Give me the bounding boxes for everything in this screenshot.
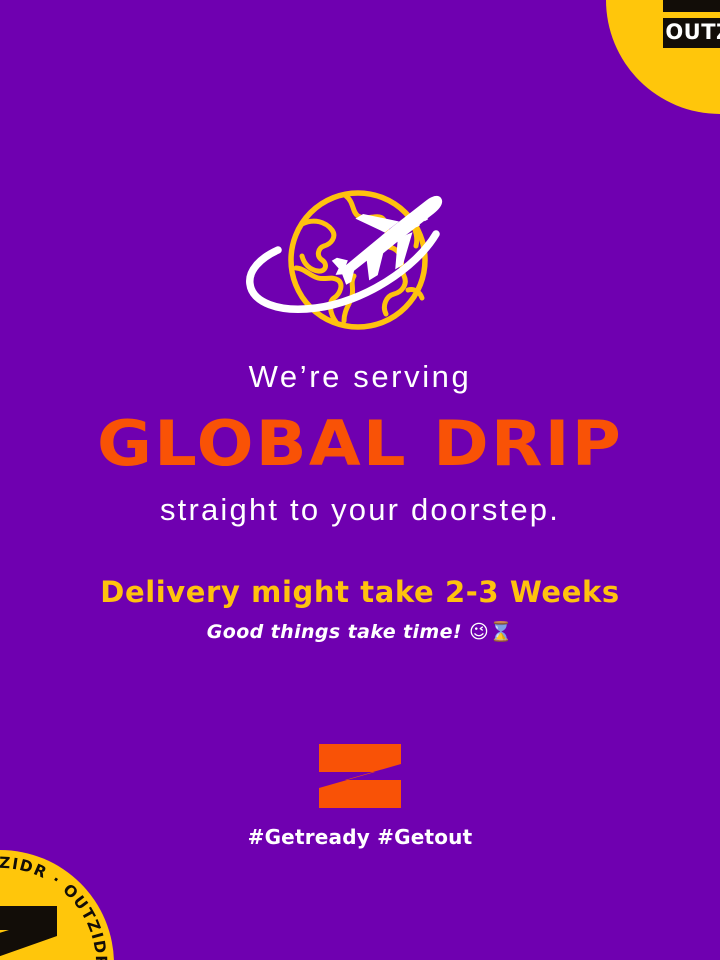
- footer-brand-block: #Getready #Getout: [0, 744, 720, 849]
- tagline-row: Good things take time! 😉⌛: [0, 622, 720, 643]
- delivery-notice: Delivery might take 2-3 Weeks: [0, 577, 720, 609]
- brand-stamp-top-right: OUTZIDR · OUTZIDR · OUTZIDR · OUTZIDR · …: [606, 0, 720, 114]
- brand-stamp-bottom-left: OUTZIDR · OUTZIDR · OUTZIDR · OUTZIDR · …: [0, 850, 114, 960]
- globe-plane-illustration: [240, 172, 480, 342]
- headline-subline: straight to your doorstep.: [0, 493, 720, 527]
- tagline-text: Good things take time!: [207, 621, 462, 643]
- headline-main: GLOBAL DRIP: [0, 408, 720, 479]
- z-logo-icon: [319, 744, 401, 808]
- stamp-center-word: OUTZIDR: [665, 20, 720, 44]
- hashtag-line: #Getready #Getout: [0, 825, 720, 849]
- stamp-z-mark-bottom-left: OUTZIDR: [0, 902, 63, 960]
- poster-copy-block: We’re serving GLOBAL DRIP straight to yo…: [0, 360, 720, 643]
- poster-canvas: OUTZIDR · OUTZIDR · OUTZIDR · OUTZIDR · …: [0, 0, 720, 960]
- headline-eyebrow: We’re serving: [0, 360, 720, 394]
- tagline-emoji: 😉⌛: [469, 621, 513, 643]
- stamp-z-mark-top-right: OUTZIDR: [657, 0, 720, 62]
